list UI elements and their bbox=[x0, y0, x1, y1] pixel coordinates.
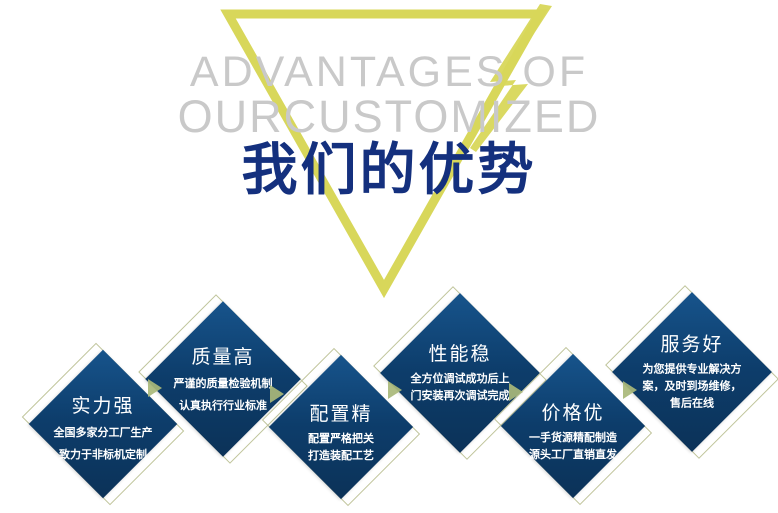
advantages-infographic: ADVANTAGES OF OURCUSTOMIZED 我们的优势 实力强全国多… bbox=[0, 0, 778, 513]
advantage-diamond-row: 实力强全国多家分工厂生产致力于非标机定制质量高严谨的质量检验机制认真执行行业标准… bbox=[0, 0, 778, 513]
flow-arrow-icon-1 bbox=[148, 379, 162, 397]
flow-arrow-icon-3 bbox=[388, 381, 402, 399]
flow-arrow-icon-5 bbox=[623, 381, 637, 399]
flow-arrow-icon-2 bbox=[270, 385, 284, 403]
flow-arrow-icon-4 bbox=[509, 383, 523, 401]
